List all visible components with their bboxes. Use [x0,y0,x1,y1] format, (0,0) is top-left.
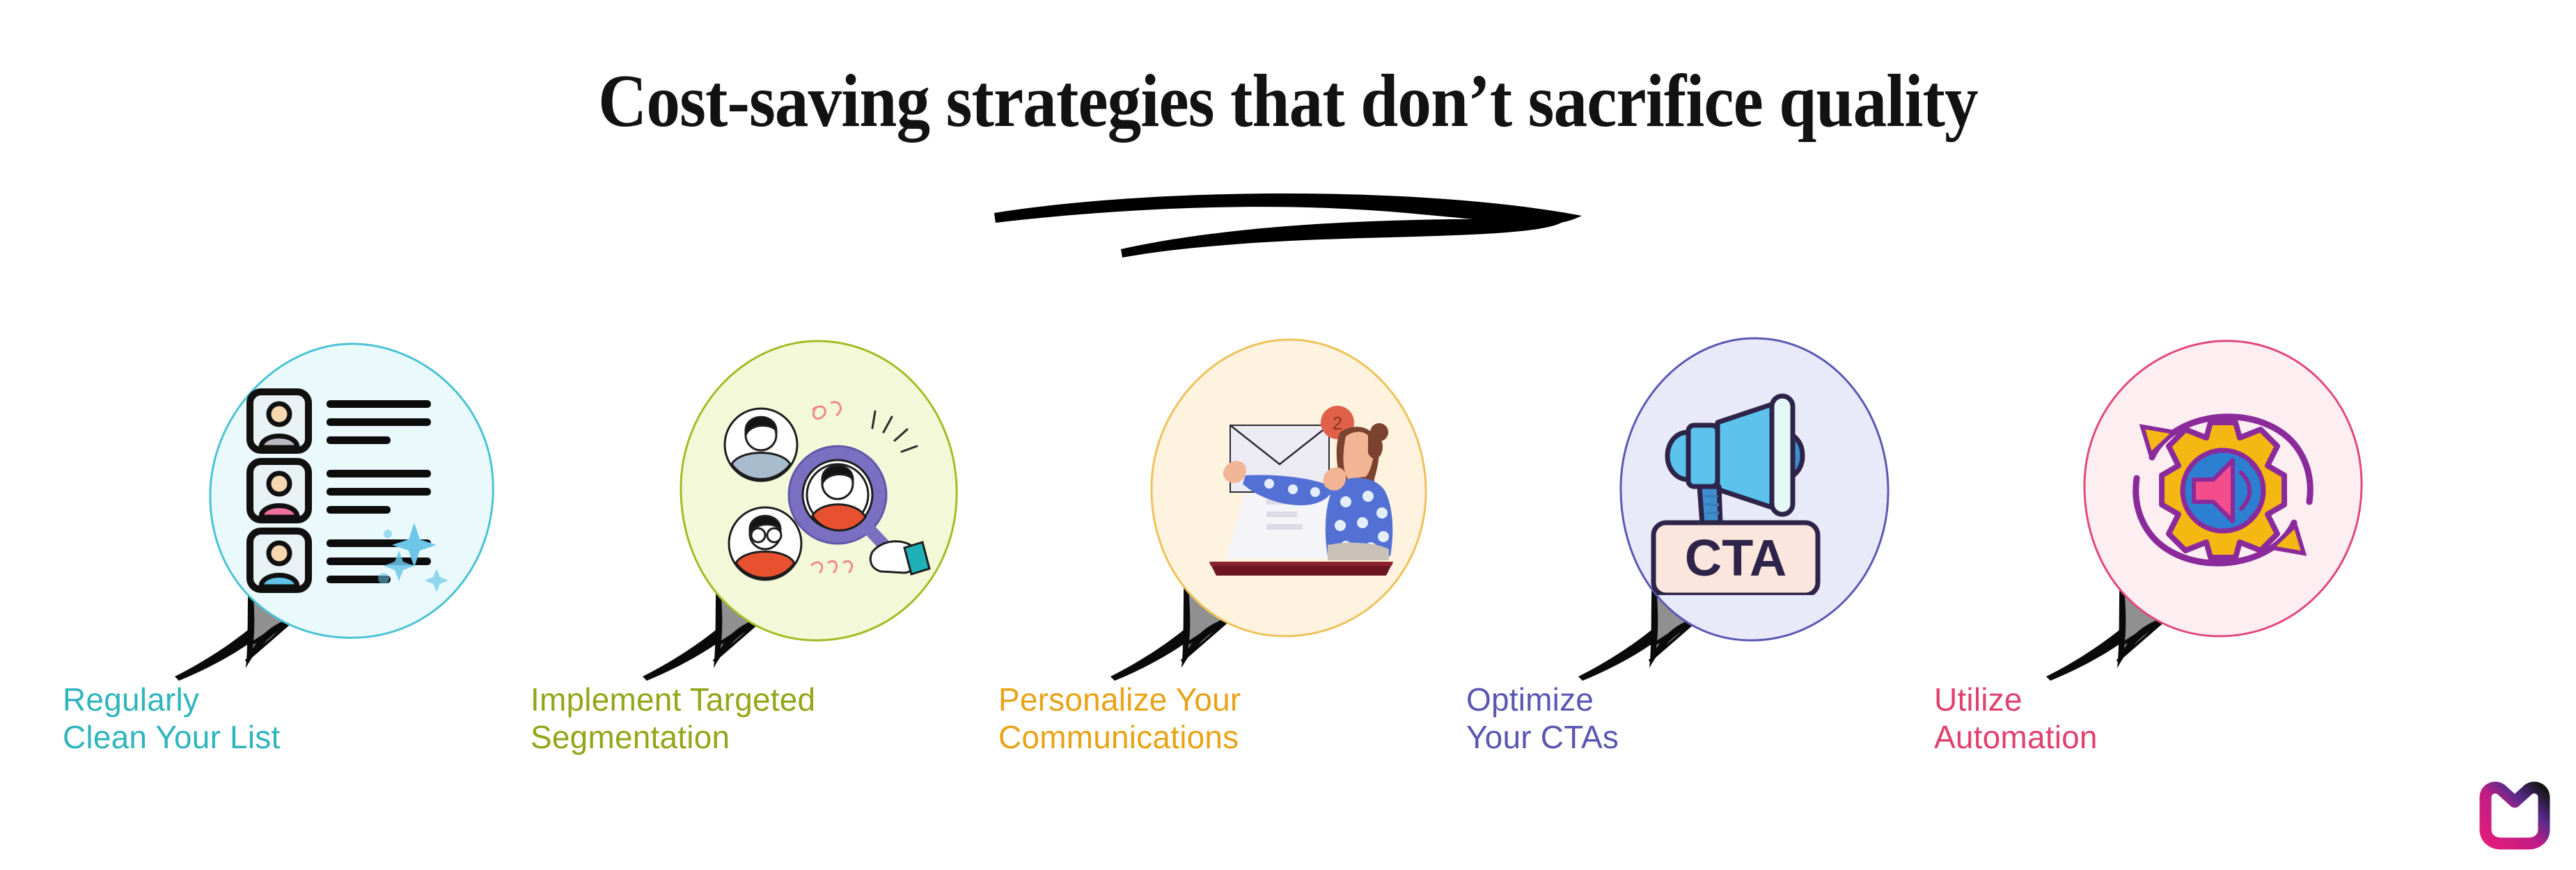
step-optimize-cta[interactable]: CTA Optimize Your CTAs [1404,0,1877,870]
step-label: Regularly Clean Your List [63,681,508,757]
step-label: Personalize Your Communications [998,681,1444,757]
megaphone-cta-icon: CTA [1644,386,1867,595]
step-label: Optimize Your CTAs [1466,681,1912,757]
blob-clean-list [202,334,501,647]
step-label: Utilize Automation [1934,681,2380,757]
steps-row: Regularly Clean Your List [0,0,2576,870]
step-personalize[interactable]: 2 [936,0,1409,870]
audience-magnifier-icon [708,386,931,595]
email-laptop-icon: 2 [1176,386,1399,595]
blob-segmentation [670,334,969,647]
blob-personalize: 2 [1138,334,1437,647]
step-label: Implement Targeted Segmentation [531,681,976,757]
step-automation[interactable]: Utilize Automation [1871,0,2345,870]
svg-text:2: 2 [1333,413,1342,434]
contact-list-icon [240,386,463,595]
cta-plaque-text: CTA [1685,529,1787,587]
blob-optimize-cta: CTA [1605,334,1905,647]
step-clean-list[interactable]: Regularly Clean Your List [0,0,473,870]
step-segmentation[interactable]: Implement Targeted Segmentation [468,0,941,870]
envelope-m-logo [2473,774,2557,857]
automation-gear-icon [2112,386,2334,595]
blob-automation [2073,334,2373,647]
